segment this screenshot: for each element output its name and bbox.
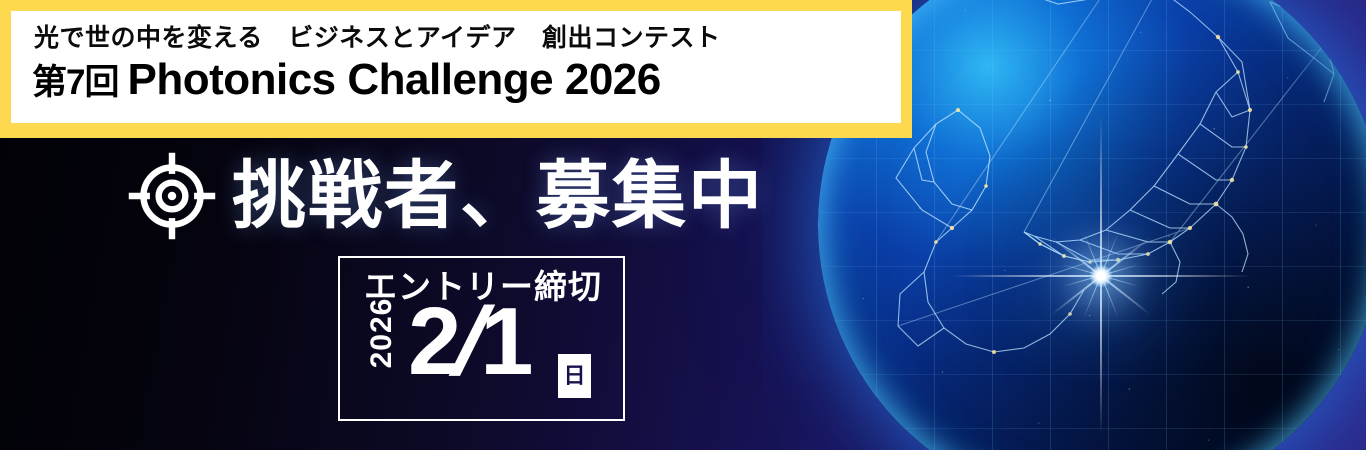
target-crosshair-icon <box>126 150 218 242</box>
deadline-year: 2026 <box>367 285 397 381</box>
page-title: 第7回 Photonics Challenge 2026 <box>32 58 661 102</box>
headline-text: 挑戦者、募集中 <box>232 159 764 233</box>
edition-label: 第7回 <box>32 65 118 100</box>
entry-deadline-box: エントリー締切 2026 2 / 1 日 <box>338 256 625 421</box>
deadline-day-of-week-badge: 日 <box>558 354 591 398</box>
title-latin: Photonics Challenge 2026 <box>127 58 660 102</box>
contest-subtitle: 光で世の中を変える ビジネスとアイデア 創出コンテスト <box>34 26 721 51</box>
headline-row: 挑戦者、募集中 <box>126 150 764 242</box>
photonics-challenge-banner: 光で世の中を変える ビジネスとアイデア 創出コンテスト 第7回 Photonic… <box>0 0 1366 450</box>
deadline-date: 2 / 1 <box>408 294 530 390</box>
